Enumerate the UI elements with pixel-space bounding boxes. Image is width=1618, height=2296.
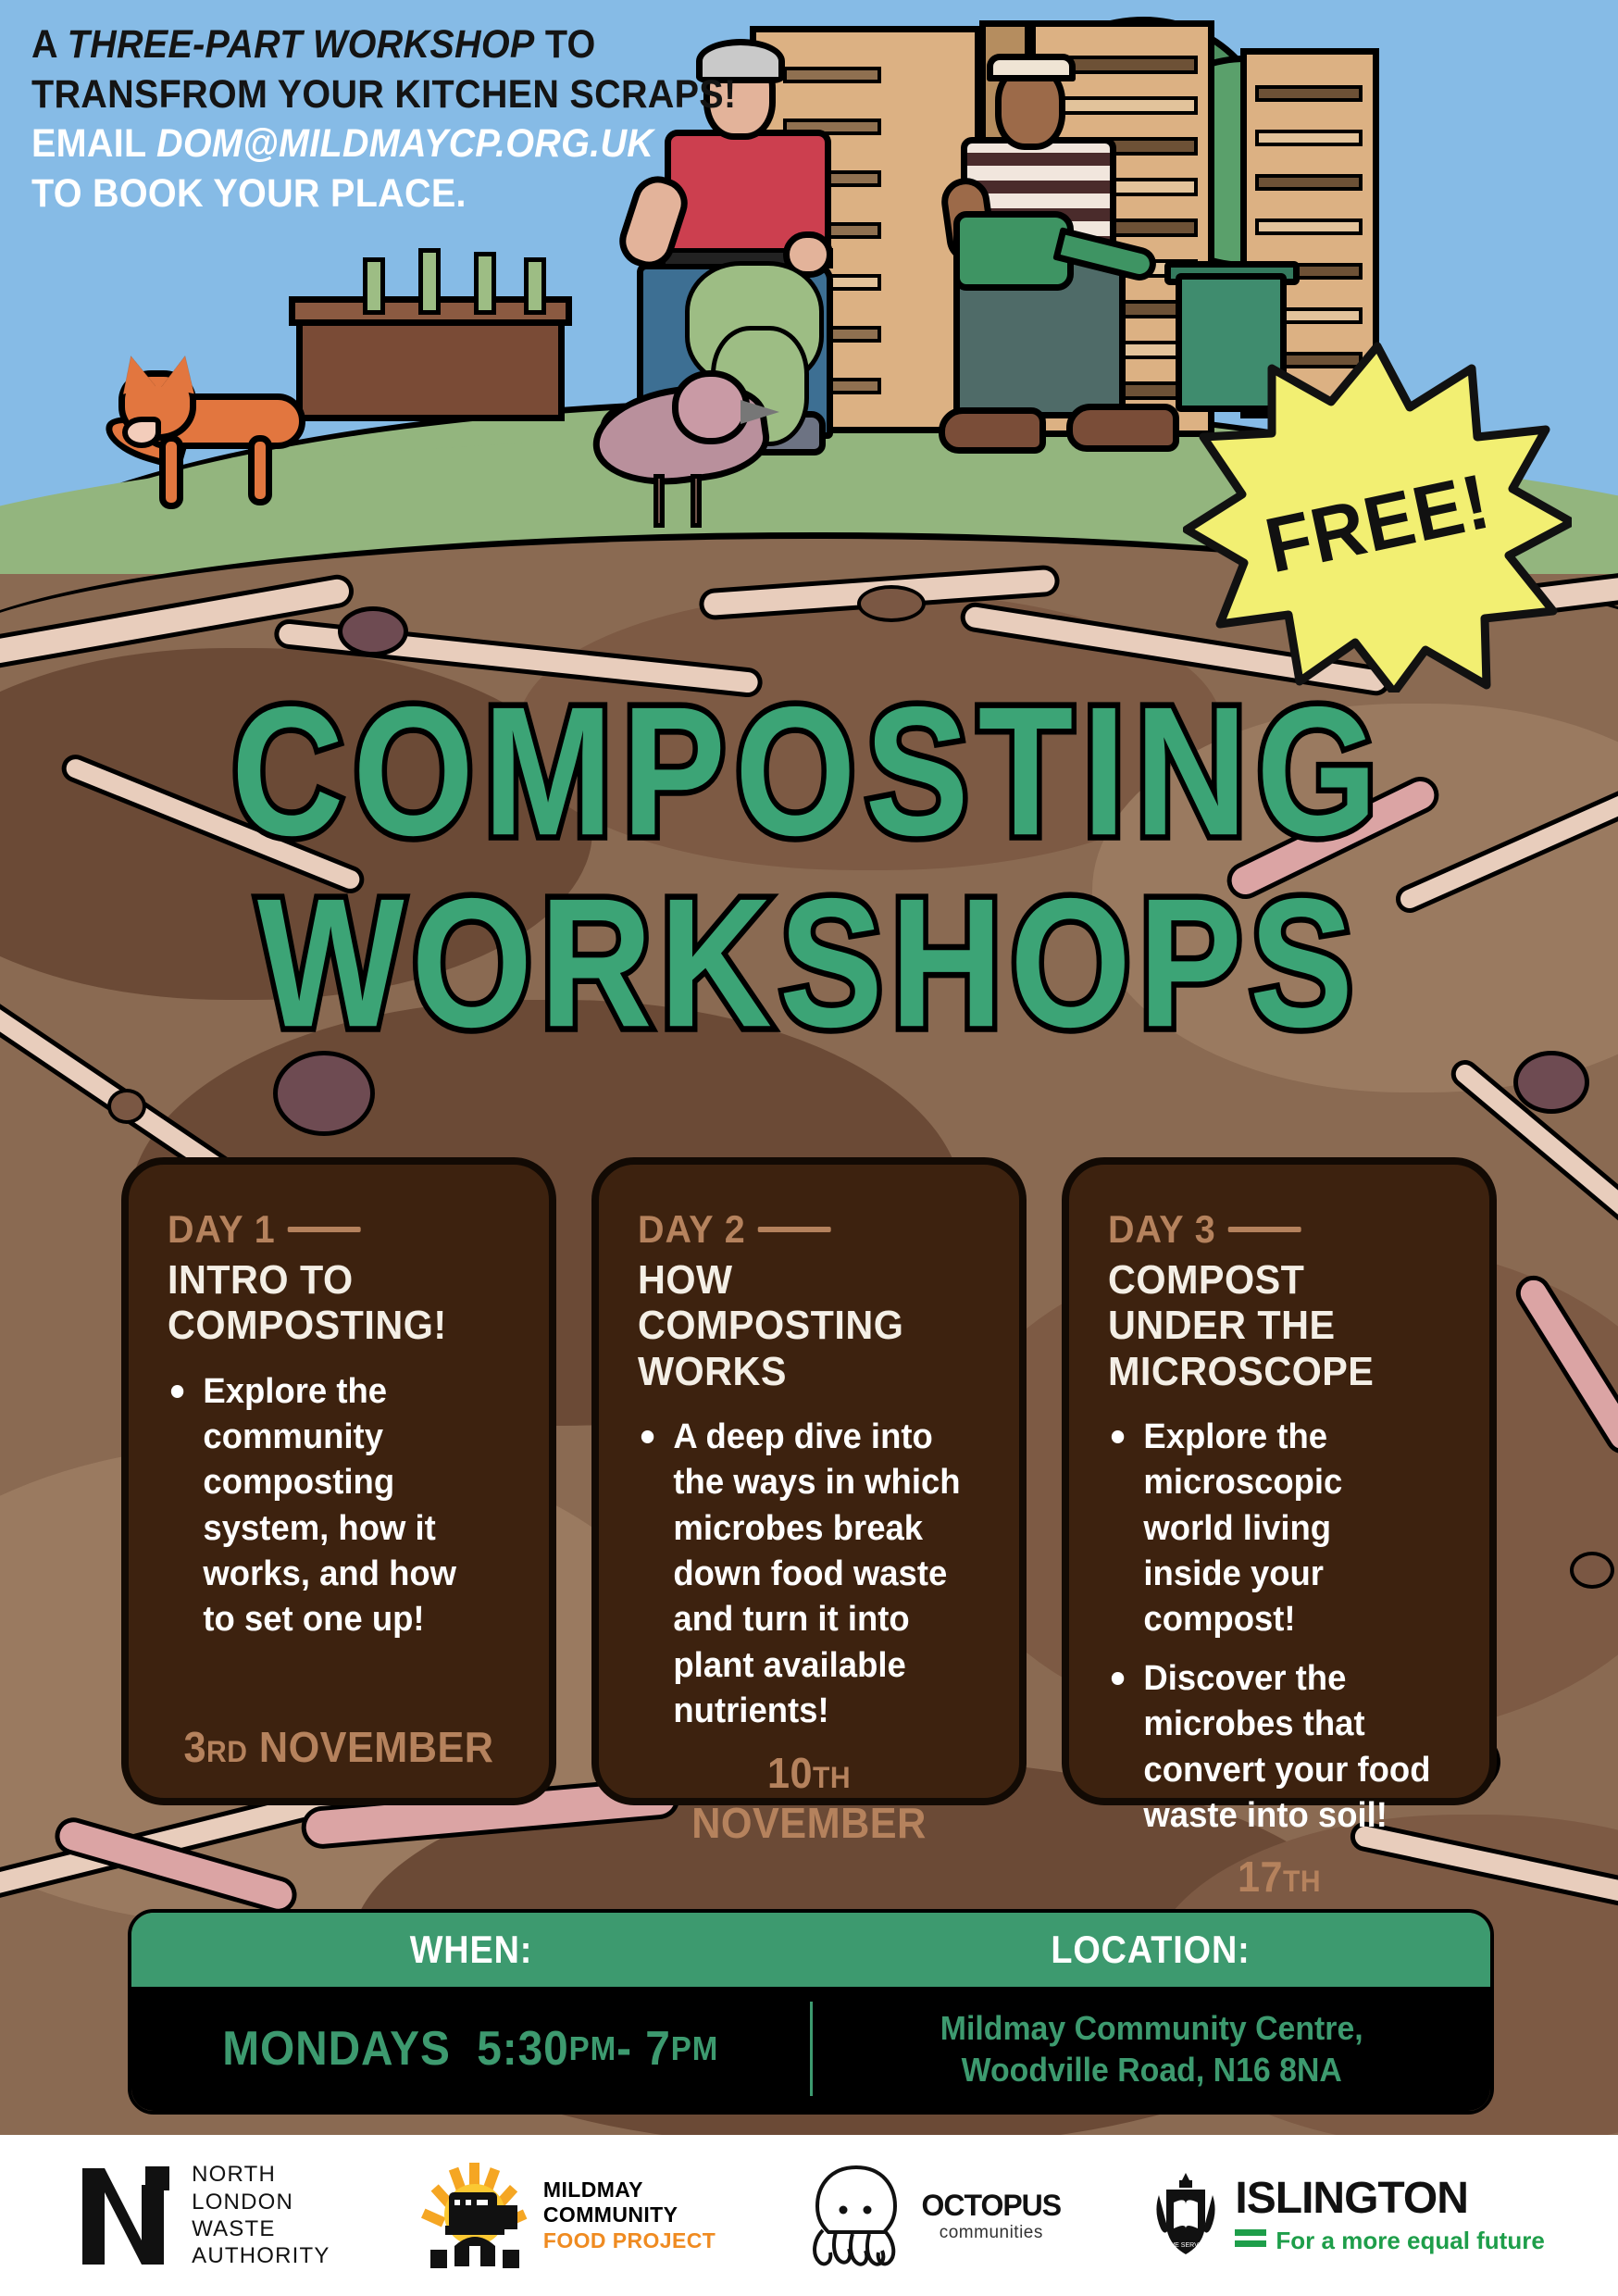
ant-icon xyxy=(342,611,404,652)
logo-octopus-communities: OCTOPUS communities xyxy=(806,2162,1061,2269)
nlwa-line-2: LONDON xyxy=(192,2189,330,2215)
mildmay-line-1: MILDMAY xyxy=(543,2177,716,2203)
card-date-1: 3RD NOVEMBER xyxy=(178,1722,500,1772)
bird-leg xyxy=(653,474,665,528)
list-item: A deep dive into the ways in which micro… xyxy=(638,1415,966,1735)
day-label-text: DAY 1 xyxy=(168,1207,276,1252)
card-bullets-3: Explore the microscopic world living ins… xyxy=(1108,1415,1450,1853)
compost-bin-slat xyxy=(1255,174,1363,191)
info-bar: WHEN: LOCATION: MONDAYS 5:30PM - 7PM Mil… xyxy=(128,1909,1494,2115)
when-heading: WHEN: xyxy=(166,1913,778,1987)
workshop-card-day-2[interactable]: DAY 2 HOW COMPOSTING WORKS A deep dive i… xyxy=(591,1157,1027,1805)
location-heading: LOCATION: xyxy=(845,1913,1457,1987)
card-title-2: HOW COMPOSTING WORKS xyxy=(638,1257,960,1394)
info-bar-headings: WHEN: LOCATION: xyxy=(131,1913,1490,1987)
when-value: MONDAYS 5:30PM - 7PM xyxy=(158,1987,782,2111)
islington-crest-icon: WE SERVE xyxy=(1151,2171,1220,2260)
workshop-card-day-3[interactable]: DAY 3 COMPOST UNDER THE MICROSCOPE Explo… xyxy=(1062,1157,1497,1805)
plant-sprig-icon xyxy=(418,248,441,315)
header-line-2: TRANSFROM YOUR KITCHEN SCRAPS! xyxy=(31,74,628,117)
footer-logo-bar: NORTH LONDON WASTE AUTHORITY xyxy=(0,2135,1618,2296)
bird-leg xyxy=(691,474,702,528)
nlwa-mark-icon xyxy=(73,2161,177,2270)
compost-bin-slat xyxy=(783,67,881,83)
pebble xyxy=(861,589,922,618)
header-copy: A THREE-PART WORKSHOP TO TRANSFROM YOUR … xyxy=(31,24,679,222)
compost-bin-slat xyxy=(1255,130,1363,146)
free-badge-label: FREE! xyxy=(1258,455,1498,591)
card-bullets-1: Explore the community composting system,… xyxy=(168,1369,510,1722)
islington-wordmark: ISLINGTON For a more equal future xyxy=(1235,2177,1544,2255)
beetle-icon xyxy=(278,1055,370,1131)
card-title-1: INTRO TO COMPOSTING! xyxy=(168,1257,490,1349)
octopus-name: OCTOPUS xyxy=(921,2189,1061,2223)
day-label-3: DAY 3 xyxy=(1108,1207,1430,1252)
day-label-text: DAY 2 xyxy=(638,1207,746,1252)
day-label-2: DAY 2 xyxy=(638,1207,960,1252)
logo-mildmay-community-food-project: MILDMAY COMMUNITY FOOD PROJECT xyxy=(421,2161,716,2270)
day-label-dash-icon xyxy=(1228,1227,1301,1232)
mildmay-sunburst-building-icon xyxy=(421,2161,529,2270)
compost-bin-slat xyxy=(1046,96,1198,115)
compost-bin-slat xyxy=(1255,85,1363,102)
free-badge-text-wrap: FREE! xyxy=(1183,341,1572,693)
islington-bars-icon xyxy=(1235,2229,1266,2252)
islington-name: ISLINGTON xyxy=(1235,2177,1544,2221)
page-title: COMPOSTING WORKSHOPS xyxy=(0,687,1618,1021)
poster-root: A THREE-PART WORKSHOP TO TRANSFROM YOUR … xyxy=(0,0,1618,2296)
info-bar-divider xyxy=(810,2002,813,2096)
fox-leg xyxy=(248,435,272,505)
free-badge: FREE! xyxy=(1183,341,1572,693)
location-line-2: Woodville Road, N16 8NA xyxy=(961,2049,1341,2090)
person-right-hat xyxy=(987,54,1076,81)
pebble xyxy=(111,1092,143,1120)
fox-snout xyxy=(122,417,161,448)
fox-ear xyxy=(161,353,201,394)
bird-head xyxy=(672,370,750,444)
header-line-4: TO BOOK YOUR PLACE. xyxy=(31,173,628,216)
card-bullets-2: A deep dive into the ways in which micro… xyxy=(638,1415,980,1748)
plant-sprig-icon xyxy=(524,257,546,315)
logo-islington-council: WE SERVE ISLINGTON For a more equal futu… xyxy=(1151,2171,1544,2260)
fox-leg xyxy=(159,435,183,509)
list-item: Discover the microbes that convert your … xyxy=(1108,1656,1437,1840)
location-value: Mildmay Community Centre, Woodville Road… xyxy=(832,1987,1470,2111)
compost-bin-slat xyxy=(1255,218,1363,235)
plant-sprig-icon xyxy=(363,257,385,315)
octopus-subtitle: communities xyxy=(921,2223,1061,2243)
octopus-wordmark: OCTOPUS communities xyxy=(921,2189,1061,2243)
plant-sprig-icon xyxy=(474,252,496,315)
nlwa-wordmark: NORTH LONDON WASTE AUTHORITY xyxy=(192,2161,330,2269)
mildmay-wordmark: MILDMAY COMMUNITY FOOD PROJECT xyxy=(543,2177,716,2254)
location-line-1: Mildmay Community Centre, xyxy=(940,2007,1363,2049)
title-line-1: COMPOSTING xyxy=(0,687,1618,855)
list-item: Explore the community composting system,… xyxy=(168,1369,496,1643)
svg-text:WE SERVE: WE SERVE xyxy=(1169,2242,1203,2249)
info-bar-values: MONDAYS 5:30PM - 7PM Mildmay Community C… xyxy=(131,1987,1490,2111)
title-line-2: WORKSHOPS xyxy=(0,879,1618,1047)
islington-tagline-wrap: For a more equal future xyxy=(1235,2227,1544,2255)
workshop-card-day-1[interactable]: DAY 1 INTRO TO COMPOSTING! Explore the c… xyxy=(121,1157,556,1805)
card-title-3: COMPOST UNDER THE MICROSCOPE xyxy=(1108,1257,1430,1394)
mildmay-line-2: COMMUNITY xyxy=(543,2202,716,2228)
bird-beak-icon xyxy=(741,400,779,424)
nlwa-line-3: WASTE xyxy=(192,2215,330,2242)
day-label-dash-icon xyxy=(758,1227,831,1232)
day-label-1: DAY 1 xyxy=(168,1207,490,1252)
card-date-2: 10TH NOVEMBER xyxy=(648,1748,970,1848)
header-line-3: EMAIL DOM@MILDMAYCP.ORG.UK xyxy=(31,123,628,166)
mite-icon xyxy=(1518,1055,1585,1109)
workshop-cards: DAY 1 INTRO TO COMPOSTING! Explore the c… xyxy=(0,1157,1618,1805)
header-line-1: A THREE-PART WORKSHOP TO xyxy=(31,24,628,67)
person-right-shoe xyxy=(939,407,1046,454)
mildmay-line-3: FOOD PROJECT xyxy=(543,2228,716,2254)
list-item: Explore the microscopic world living ins… xyxy=(1108,1415,1437,1643)
islington-tagline: For a more equal future xyxy=(1276,2227,1544,2255)
day-label-text: DAY 3 xyxy=(1108,1207,1216,1252)
person-right-shoe xyxy=(1066,404,1179,452)
octopus-icon xyxy=(806,2162,906,2269)
planter-box xyxy=(296,315,565,421)
day-label-dash-icon xyxy=(288,1227,361,1232)
nlwa-line-1: NORTH xyxy=(192,2161,330,2188)
nlwa-line-4: AUTHORITY xyxy=(192,2242,330,2269)
logo-north-london-waste-authority: NORTH LONDON WASTE AUTHORITY xyxy=(73,2161,330,2270)
